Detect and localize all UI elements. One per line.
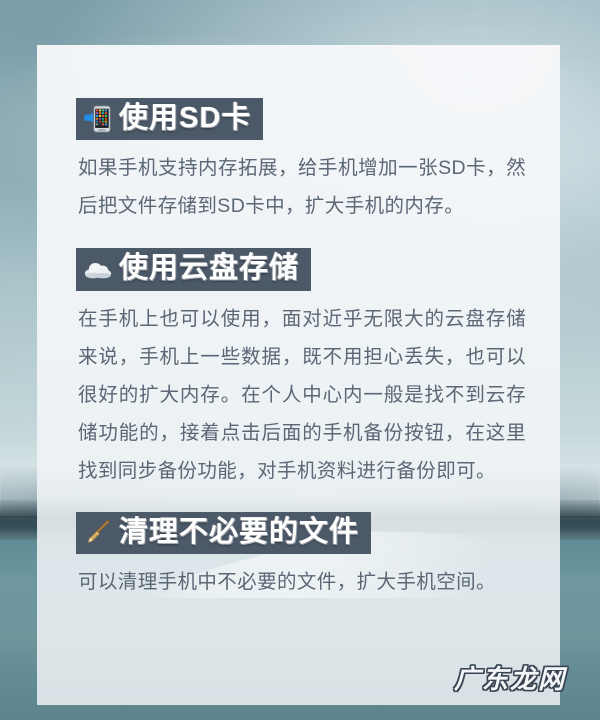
- body-text-sd-card: 如果手机支持内存拓展，给手机增加一张SD卡，然后把文件存储到SD卡中，扩大手机的…: [78, 149, 526, 225]
- body-text-clean-files: 可以清理手机中不必要的文件，扩大手机空间。: [78, 563, 526, 601]
- heading-band-sd-card: 使用SD卡: [76, 98, 263, 140]
- heading-label-sd-card: 使用SD卡: [119, 103, 251, 134]
- body-text-cloud-storage: 在手机上也可以使用，面对近乎无限大的云盘存储来说，手机上一些数据，既不用担心丢失…: [78, 300, 526, 490]
- site-watermark: 广东龙网: [454, 659, 566, 696]
- section-clean-files: 清理不必要的文件 可以清理手机中不必要的文件，扩大手机空间。: [76, 512, 526, 601]
- content-card: 使用SD卡 如果手机支持内存拓展，给手机增加一张SD卡，然后把文件存储到SD卡中…: [37, 45, 560, 705]
- mobile-phone-icon: [84, 104, 112, 134]
- heading-label-clean-files: 清理不必要的文件: [119, 517, 359, 548]
- heading-band-cloud-storage: 使用云盘存储: [76, 248, 311, 290]
- heading-label-cloud-storage: 使用云盘存储: [119, 253, 299, 284]
- section-cloud-storage: 使用云盘存储 在手机上也可以使用，面对近乎无限大的云盘存储来说，手机上一些数据，…: [76, 248, 526, 489]
- cloud-icon: [84, 254, 112, 284]
- section-spacer-1: [76, 225, 526, 248]
- section-sd-card: 使用SD卡 如果手机支持内存拓展，给手机增加一张SD卡，然后把文件存储到SD卡中…: [76, 98, 526, 225]
- infographic-stage: 使用SD卡 如果手机支持内存拓展，给手机增加一张SD卡，然后把文件存储到SD卡中…: [0, 0, 600, 720]
- section-spacer-2: [76, 490, 526, 512]
- broom-icon: [84, 517, 112, 547]
- content-card-inner: 使用SD卡 如果手机支持内存拓展，给手机增加一张SD卡，然后把文件存储到SD卡中…: [76, 98, 526, 601]
- heading-band-clean-files: 清理不必要的文件: [76, 512, 371, 554]
